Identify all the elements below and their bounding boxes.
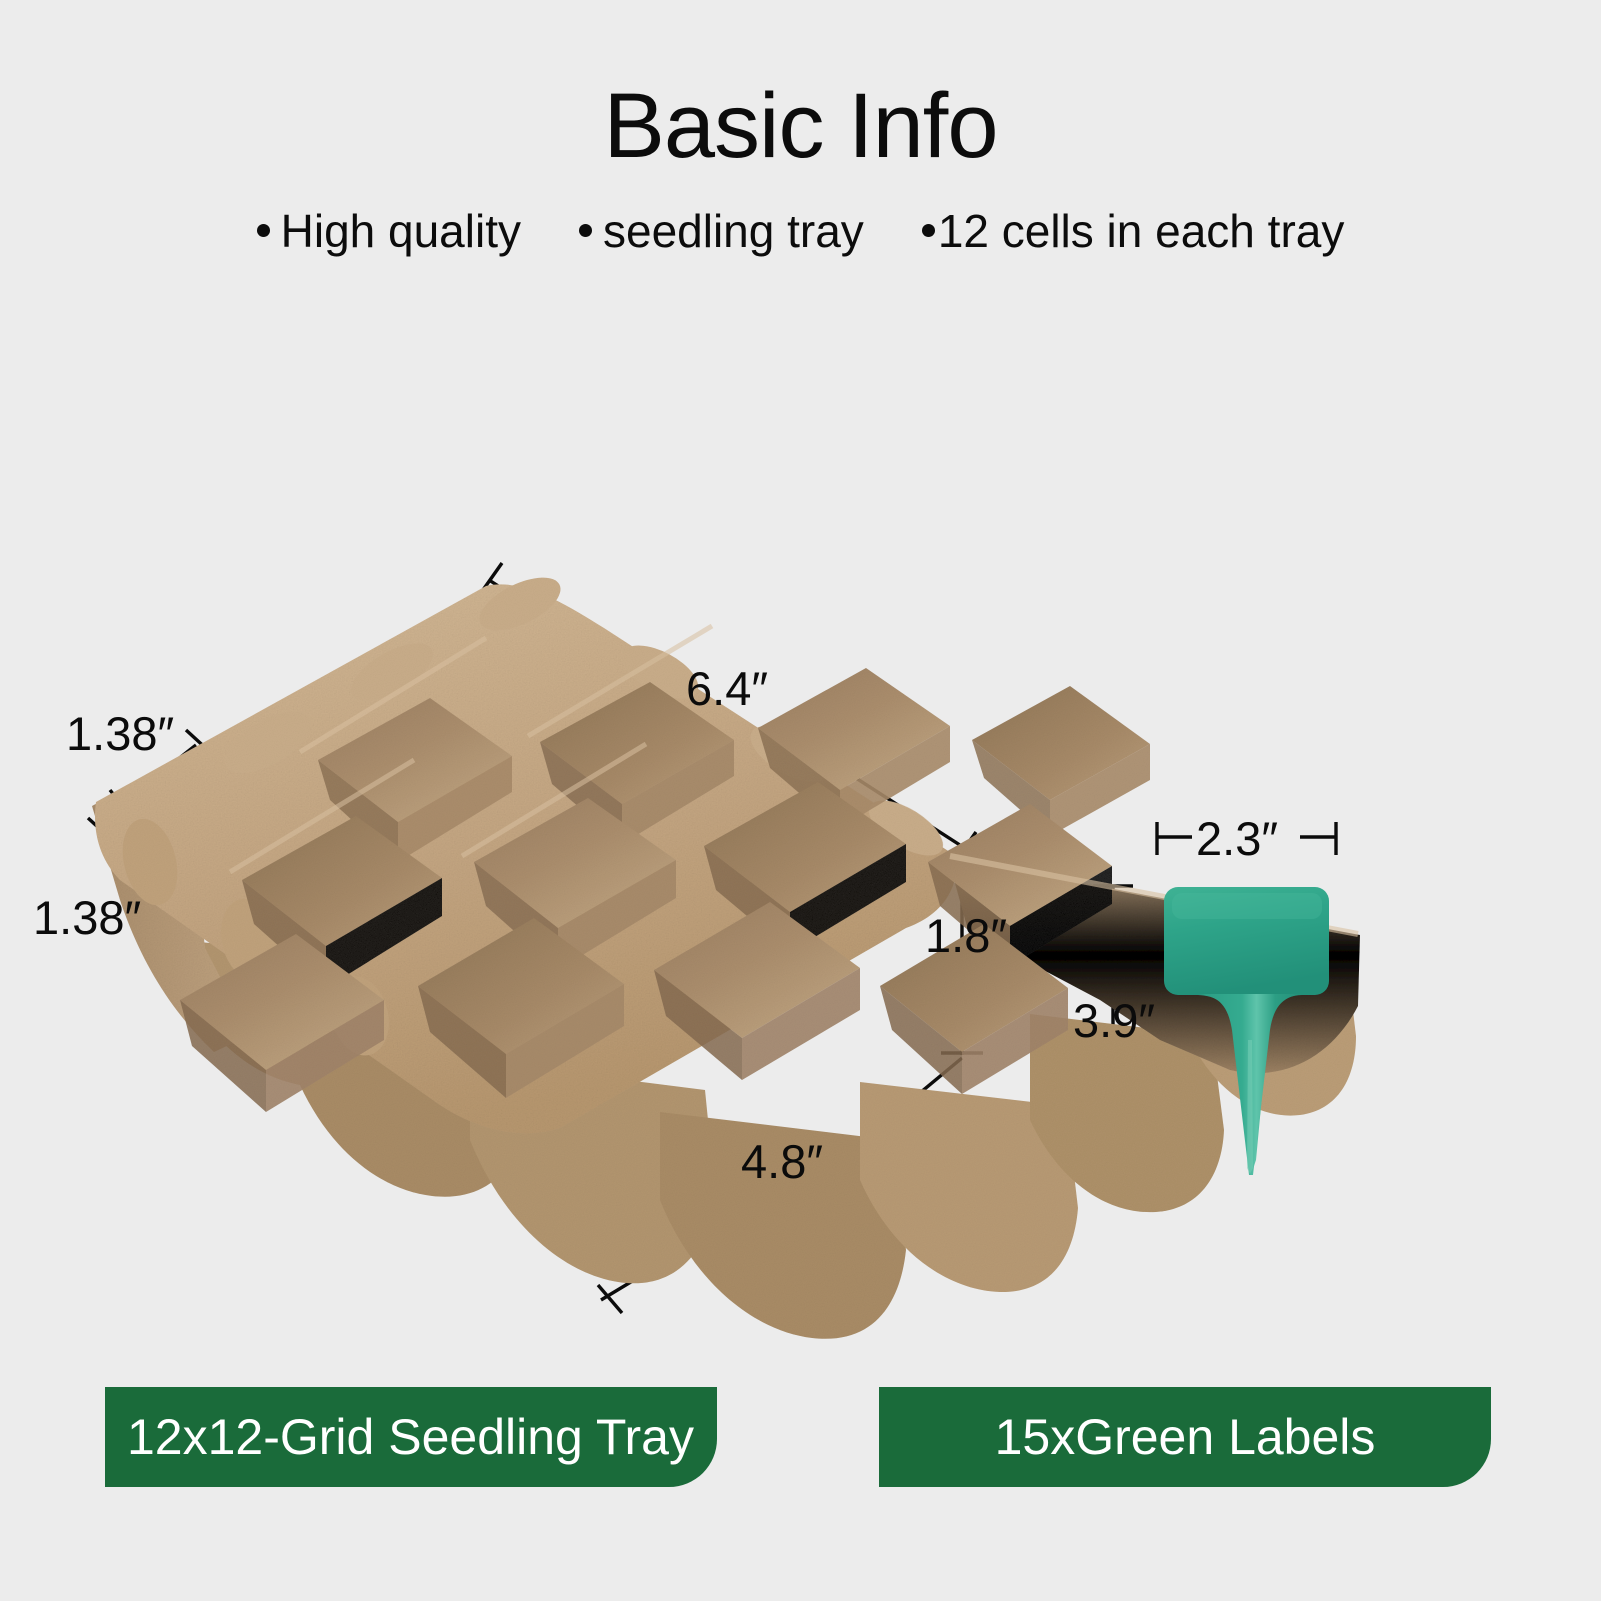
banner-seedling-tray-label: 12x12-Grid Seedling Tray <box>127 1408 694 1466</box>
dimension-label-label-height: 3.9″ <box>1073 993 1155 1048</box>
page-title: Basic Info <box>0 78 1601 175</box>
banner-green-labels: 15xGreen Labels <box>879 1387 1491 1487</box>
bullet-dot-icon <box>257 224 270 237</box>
banner-green-labels-label: 15xGreen Labels <box>995 1408 1376 1466</box>
dimension-label-tray-length: 6.4″ <box>686 661 768 716</box>
dimension-label-tray-height: 1.8″ <box>925 908 1007 963</box>
dimension-label-cell-depth: 1.38″ <box>33 890 141 945</box>
feature-bullet-list: High quality seedling tray 12 cells in e… <box>0 204 1601 258</box>
feature-bullet-0: High quality <box>257 204 521 258</box>
feature-bullet-1: seedling tray <box>579 204 864 258</box>
feature-bullet-2-label: 12 cells in each tray <box>938 204 1345 258</box>
feature-bullet-1-label: seedling tray <box>603 204 864 258</box>
dimension-label-cell-width: 1.38″ <box>66 706 174 761</box>
feature-bullet-2: 12 cells in each tray <box>922 204 1345 258</box>
dimension-label-tray-width: 4.8″ <box>741 1134 823 1189</box>
bullet-dot-icon <box>579 224 592 237</box>
infographic-page: Basic Info High quality seedling tray 12… <box>0 0 1601 1601</box>
dimension-label-label-width: 2.3″ <box>1196 811 1278 866</box>
bullet-dot-icon <box>922 224 935 237</box>
plant-label-illustration <box>1164 887 1329 1175</box>
feature-bullet-0-label: High quality <box>281 204 521 258</box>
banner-seedling-tray: 12x12-Grid Seedling Tray <box>105 1387 717 1487</box>
